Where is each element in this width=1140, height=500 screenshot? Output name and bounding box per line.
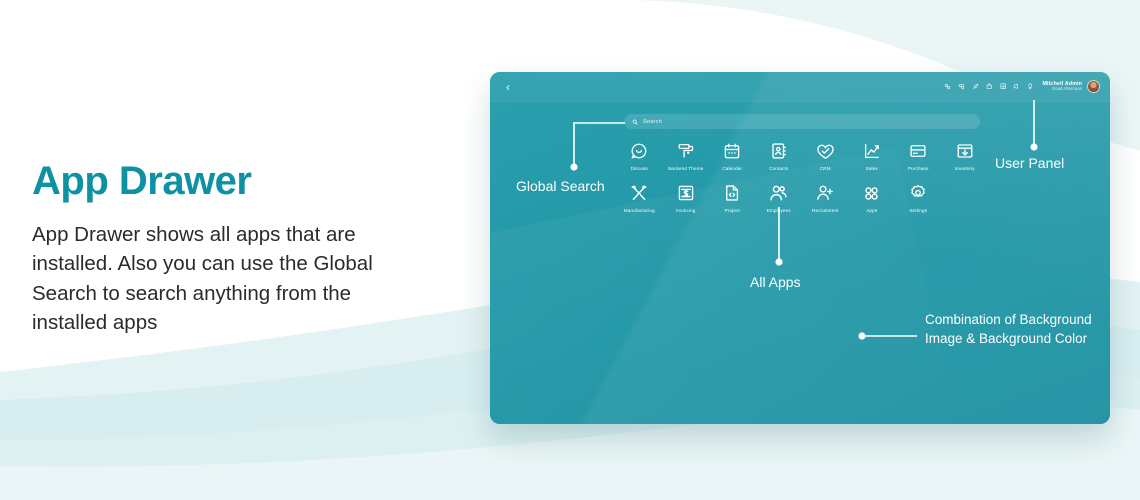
app-label: Invoicing xyxy=(676,208,695,213)
employees-icon xyxy=(768,182,790,204)
app-item-backend-theme[interactable]: Backend Theme xyxy=(663,140,710,171)
sales-chart-icon xyxy=(861,140,883,162)
left-text-block: App Drawer App Drawer shows all apps tha… xyxy=(32,160,452,337)
page-description: App Drawer shows all apps that are insta… xyxy=(32,220,392,337)
app-label: Project xyxy=(725,208,740,213)
avatar[interactable] xyxy=(1087,80,1100,93)
app-label: Apps xyxy=(866,208,877,213)
app-item-manufacturing[interactable]: Manufacturing xyxy=(616,182,663,213)
manufacturing-tools-icon xyxy=(628,182,650,204)
app-item-crm[interactable]: CRM xyxy=(802,140,849,171)
app-label: Recruitment xyxy=(812,208,838,213)
app-item-discuss[interactable]: Discuss xyxy=(616,140,663,171)
panel-header-bar: ‹ xyxy=(490,72,1110,102)
app-item-sales[interactable]: Sales xyxy=(849,140,896,171)
bulb-icon[interactable] xyxy=(1027,83,1034,90)
rocket-icon[interactable] xyxy=(972,83,979,90)
bug-badge-icon[interactable] xyxy=(958,83,965,90)
app-grid: Discuss Backend Theme xyxy=(616,140,988,213)
app-label: Employees xyxy=(767,208,791,213)
callout-all-apps: All Apps xyxy=(750,274,801,290)
paint-roller-icon xyxy=(675,140,697,162)
callout-user-panel: User Panel xyxy=(995,155,1064,171)
app-drawer-panel: ‹ xyxy=(490,72,1110,424)
crm-heart-icon xyxy=(814,140,836,162)
slide-canvas: App Drawer App Drawer shows all apps tha… xyxy=(0,0,1140,500)
system-icon-tray xyxy=(944,83,1033,90)
inventory-box-icon xyxy=(954,140,976,162)
search-placeholder: Search xyxy=(643,119,662,125)
app-label: Inventory xyxy=(955,166,975,171)
settings-gear-icon xyxy=(907,182,929,204)
app-item-project[interactable]: Project xyxy=(709,182,756,213)
app-item-employees[interactable]: Employees xyxy=(756,182,803,213)
search-icon xyxy=(632,119,638,125)
app-item-settings[interactable]: Settings xyxy=(895,182,942,213)
search-input[interactable]: Search xyxy=(624,114,980,129)
app-label: Backend Theme xyxy=(668,166,703,171)
bug-icon[interactable] xyxy=(944,83,951,90)
discuss-icon xyxy=(628,140,650,162)
user-name-block: Mitchell Admin Good Afternoon xyxy=(1042,81,1082,92)
callout-global-search: Global Search xyxy=(516,178,605,194)
calendar-icon xyxy=(721,140,743,162)
app-label: Purchase xyxy=(908,166,929,171)
app-item-recruitment[interactable]: Recruitment xyxy=(802,182,849,213)
apps-dots-icon xyxy=(861,182,883,204)
contacts-icon xyxy=(768,140,790,162)
user-panel[interactable]: Mitchell Admin Good Afternoon xyxy=(1042,80,1100,93)
app-item-apps[interactable]: Apps xyxy=(849,182,896,213)
purchase-card-icon xyxy=(907,140,929,162)
app-label: Calendar xyxy=(722,166,742,171)
recruitment-user-plus-icon xyxy=(814,182,836,204)
bag-icon[interactable] xyxy=(986,83,993,90)
app-label: CRM xyxy=(820,166,831,171)
app-item-inventory[interactable]: Inventory xyxy=(942,140,989,171)
grid-icon[interactable] xyxy=(1000,83,1007,90)
project-code-icon xyxy=(721,182,743,204)
app-label: Contacts xyxy=(769,166,788,171)
user-greeting: Good Afternoon xyxy=(1042,87,1082,92)
callout-background: Combination of Background Image & Backgr… xyxy=(925,310,1100,348)
app-label: Sales xyxy=(866,166,878,171)
page-title: App Drawer xyxy=(32,160,452,202)
app-item-calendar[interactable]: Calendar xyxy=(709,140,756,171)
app-label: Manufacturing xyxy=(624,208,655,213)
app-item-invoicing[interactable]: Invoicing xyxy=(663,182,710,213)
app-label: Settings xyxy=(909,208,927,213)
app-item-contacts[interactable]: Contacts xyxy=(756,140,803,171)
chevron-left-icon[interactable]: ‹ xyxy=(500,81,516,93)
app-label: Discuss xyxy=(631,166,648,171)
megaphone-icon[interactable] xyxy=(1013,83,1020,90)
invoicing-dollar-icon xyxy=(675,182,697,204)
app-item-purchase[interactable]: Purchase xyxy=(895,140,942,171)
